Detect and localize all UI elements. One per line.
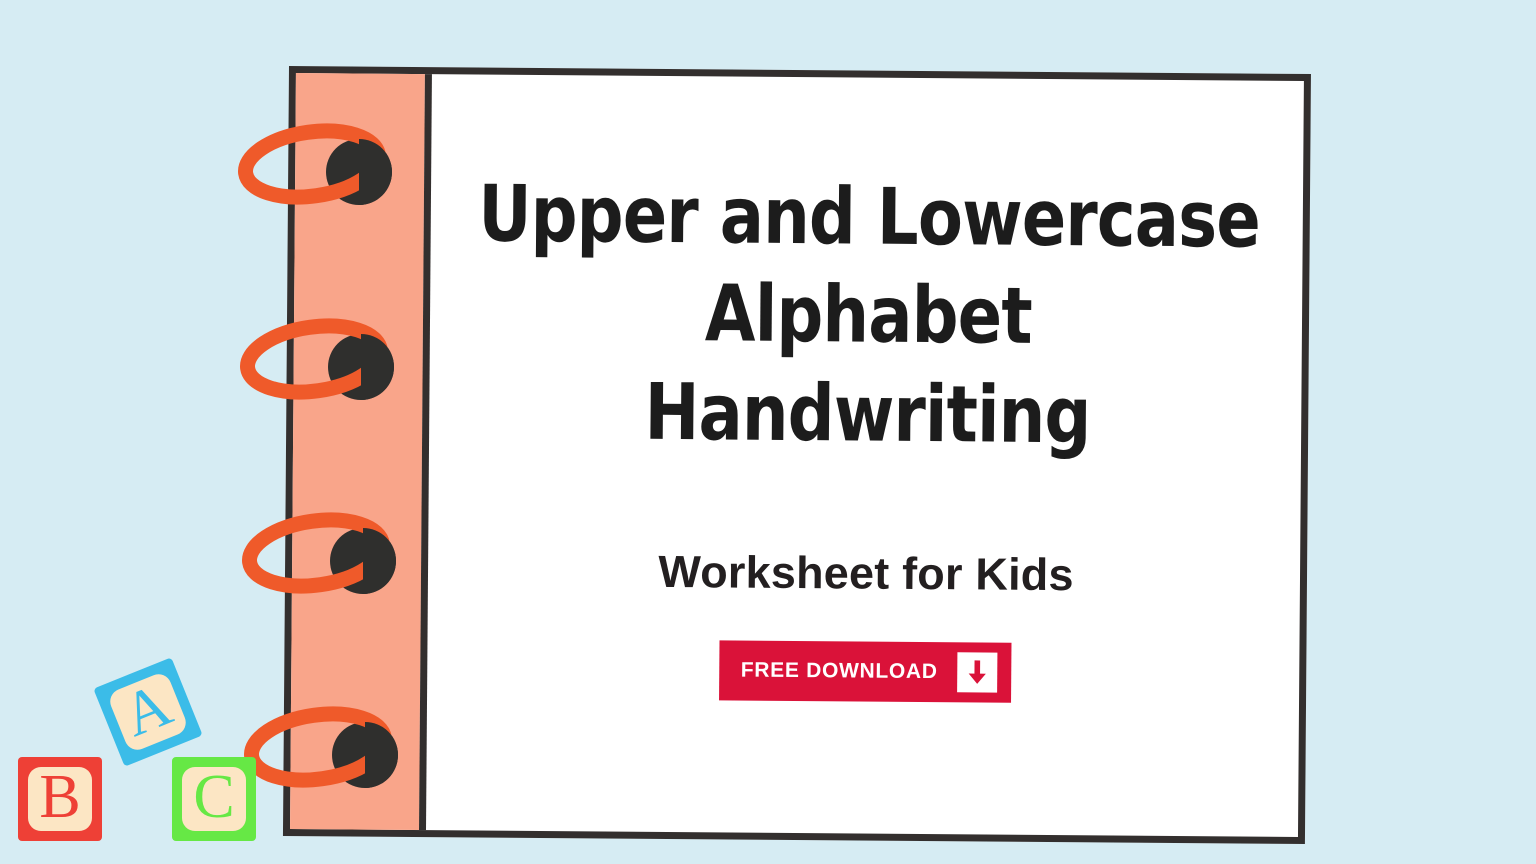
spiral-notebook: Upper and Lowercase Alphabet Handwriting… (283, 66, 1311, 844)
poster-canvas: Upper and Lowercase Alphabet Handwriting… (0, 0, 1536, 864)
page-title: Upper and Lowercase Alphabet Handwriting (476, 165, 1260, 466)
free-download-button[interactable]: FREE DOWNLOAD (719, 640, 1012, 702)
page-title-line-1: Upper and Lowercase (478, 165, 1260, 269)
block-letter: C (193, 766, 234, 828)
page-title-line-2: Alphabet (477, 264, 1259, 368)
alphabet-block-a: A (93, 657, 202, 766)
download-arrow-icon (958, 652, 998, 692)
block-face: B (28, 767, 92, 831)
free-download-label: FREE DOWNLOAD (741, 658, 938, 684)
page-subtitle: Worksheet for Kids (658, 546, 1074, 601)
alphabet-block-b: B (18, 757, 102, 841)
alphabet-block-c: C (172, 757, 256, 841)
block-letter: A (115, 673, 180, 747)
block-letter: B (39, 766, 80, 828)
block-face: C (182, 767, 246, 831)
notebook-page-content: Upper and Lowercase Alphabet Handwriting… (433, 77, 1301, 834)
page-title-line-3: Handwriting (476, 362, 1258, 466)
